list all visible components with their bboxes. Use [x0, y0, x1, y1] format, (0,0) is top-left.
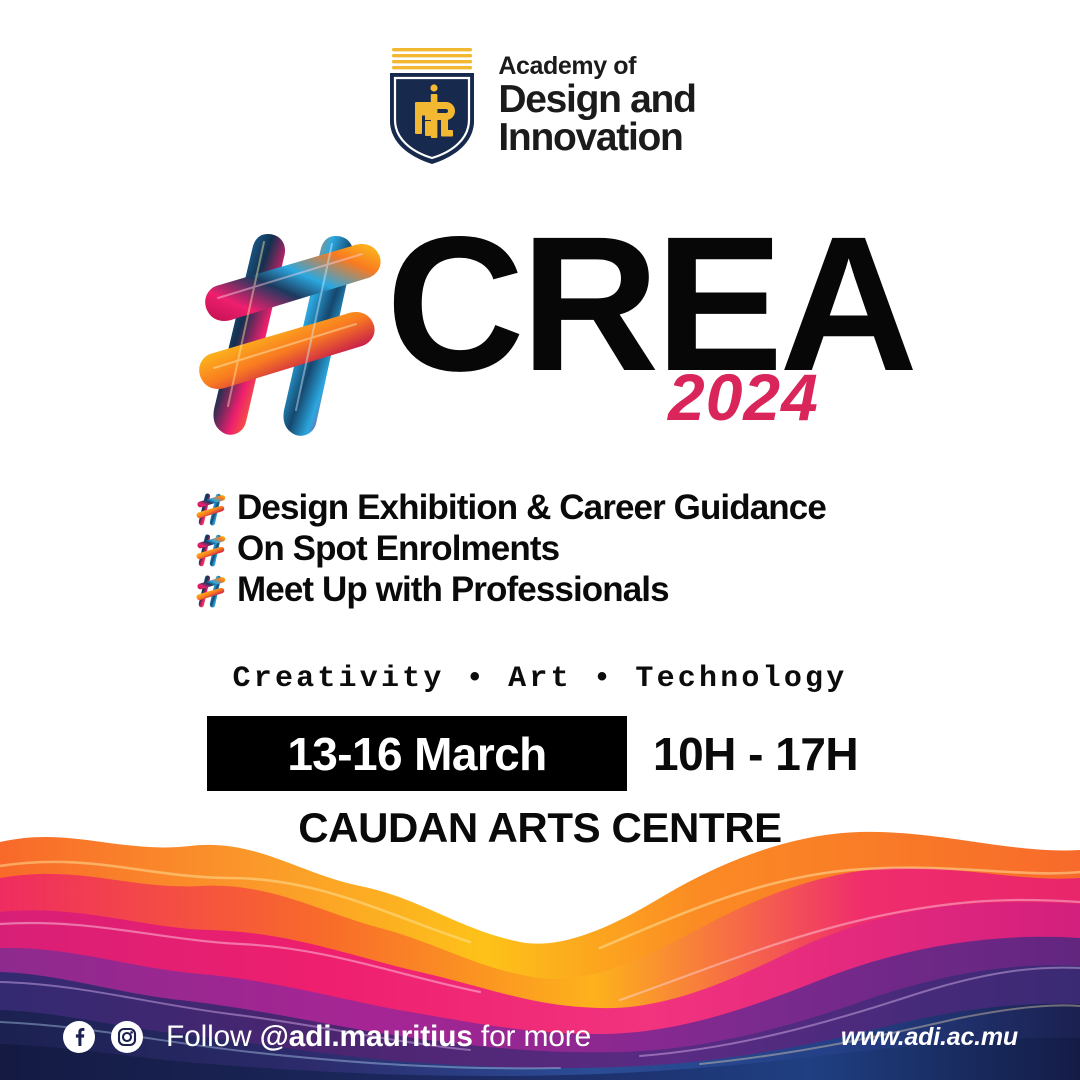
logo-name-line1: Design and	[498, 81, 695, 119]
event-title-block: CREA 2024	[0, 212, 1080, 442]
follow-suffix: for more	[473, 1020, 591, 1053]
list-item-label: Meet Up with Professionals	[237, 570, 669, 610]
adi-shield-logo-icon	[384, 46, 480, 166]
social-handle: @adi.mauritius	[260, 1020, 473, 1053]
footer-bar: Follow @adi.mauritius for more www.adi.a…	[0, 994, 1080, 1080]
list-item: Meet Up with Professionals	[196, 569, 826, 610]
instagram-icon[interactable]	[110, 1020, 144, 1054]
colorful-3d-hashtag-icon	[196, 574, 228, 608]
brand-logo: Academy of Design and Innovation	[0, 46, 1080, 166]
list-item-label: On Spot Enrolments	[237, 529, 559, 569]
list-item: On Spot Enrolments	[196, 528, 826, 569]
logo-name-line2: Innovation	[498, 119, 695, 157]
colorful-3d-hashtag-icon	[196, 492, 228, 526]
list-item: Design Exhibition & Career Guidance	[196, 487, 826, 528]
follow-text: Follow @adi.mauritius for more	[166, 1020, 591, 1054]
event-year: 2024	[668, 364, 819, 430]
facebook-icon[interactable]	[62, 1020, 96, 1054]
follow-prefix: Follow	[166, 1020, 260, 1053]
event-datetime-row: 13-16 March 10H - 17H	[207, 716, 858, 791]
website-url[interactable]: www.adi.ac.mu	[841, 1023, 1018, 1052]
logo-academy-line: Academy of	[498, 54, 695, 79]
poster-canvas: Academy of Design and Innovation	[0, 0, 1080, 1080]
social-links	[62, 1020, 144, 1054]
colorful-3d-hashtag-icon	[196, 226, 398, 438]
colorful-3d-hashtag-icon	[196, 533, 228, 567]
page-title: CREA	[386, 208, 914, 400]
event-time: 10H - 17H	[653, 727, 858, 781]
event-dates-badge: 13-16 March	[207, 716, 627, 791]
highlights-list: Design Exhibition & Career Guidance On S…	[196, 487, 826, 610]
tagline: Creativity • Art • Technology	[0, 662, 1080, 696]
list-item-label: Design Exhibition & Career Guidance	[237, 488, 826, 528]
